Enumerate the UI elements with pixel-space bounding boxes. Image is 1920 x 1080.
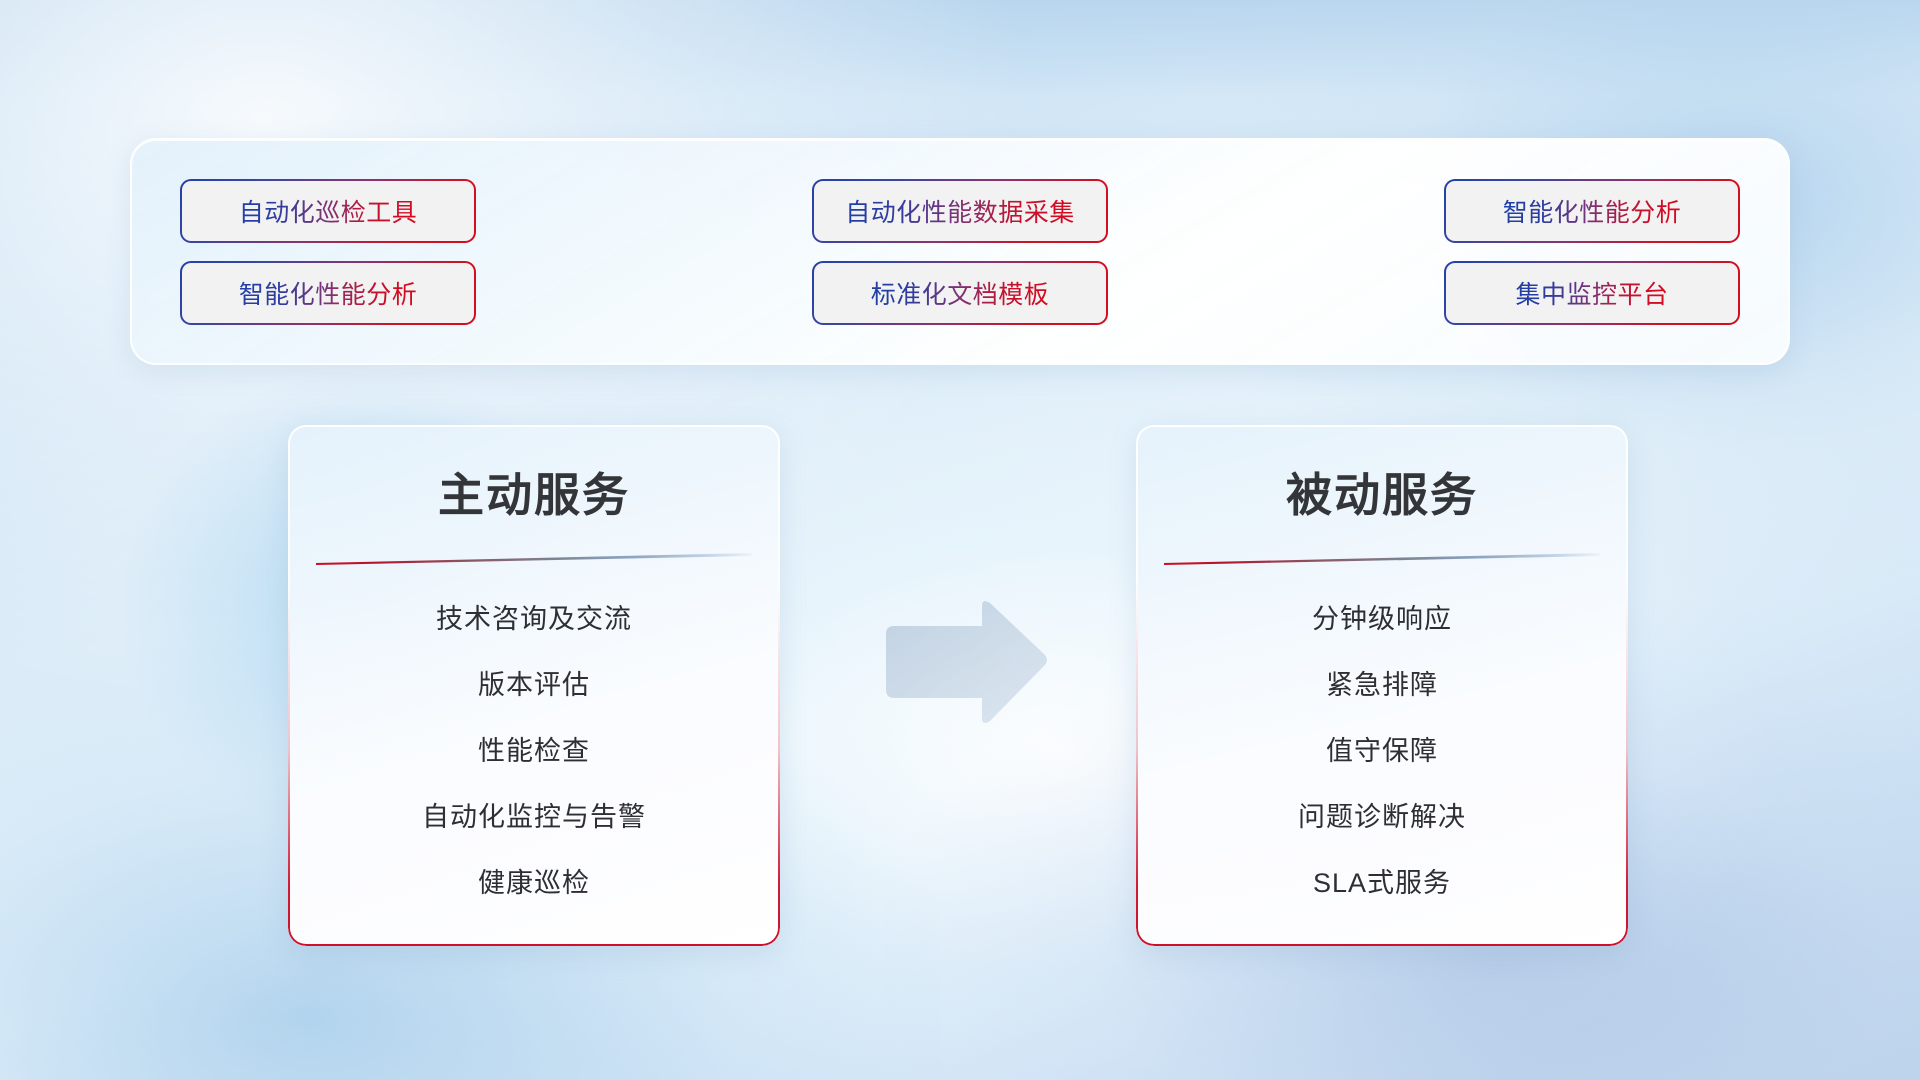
capability-pill-label: 智能化性能分析	[1503, 193, 1682, 229]
service-list-item: 自动化监控与告警	[422, 795, 646, 834]
service-list-item: 紧急排障	[1326, 663, 1438, 702]
capability-pill[interactable]: 标准化文档模板	[814, 263, 1106, 323]
title-divider	[316, 553, 752, 565]
service-list-item: 问题诊断解决	[1298, 795, 1466, 834]
capabilities-row-1: 自动化巡检工具 自动化性能数据采集 智能化性能分析	[182, 181, 1738, 241]
reactive-service-card: 被动服务 分钟级响应 紧急排障 值守保障 问题诊断解决 SLA式服务	[1136, 425, 1628, 946]
service-list-item: SLA式服务	[1313, 861, 1451, 900]
capability-pill[interactable]: 自动化巡检工具	[182, 181, 474, 241]
proactive-service-card: 主动服务 技术咨询及交流 版本评估 性能检查 自动化监控与告警 健康巡检	[288, 425, 780, 946]
service-list-item: 版本评估	[478, 663, 590, 702]
card-title: 主动服务	[288, 459, 780, 525]
service-list: 分钟级响应 紧急排障 值守保障 问题诊断解决 SLA式服务	[1136, 597, 1628, 900]
service-list: 技术咨询及交流 版本评估 性能检查 自动化监控与告警 健康巡检	[288, 597, 780, 900]
service-list-item: 健康巡检	[478, 861, 590, 900]
capability-pill-label: 自动化巡检工具	[239, 193, 418, 229]
capability-pill-label: 智能化性能分析	[239, 275, 418, 311]
capability-pill-label: 自动化性能数据采集	[845, 193, 1075, 229]
capability-pill[interactable]: 集中监控平台	[1446, 263, 1738, 323]
service-list-item: 技术咨询及交流	[436, 597, 632, 636]
card-title: 被动服务	[1136, 459, 1628, 525]
service-list-item: 性能检查	[478, 729, 590, 768]
capabilities-panel: 自动化巡检工具 自动化性能数据采集 智能化性能分析 智能化性能分析 标准化文档模…	[130, 138, 1790, 365]
capability-pill[interactable]: 自动化性能数据采集	[814, 181, 1106, 241]
title-divider	[1164, 553, 1600, 565]
service-list-item: 分钟级响应	[1312, 597, 1452, 636]
right-arrow-icon	[878, 598, 1050, 726]
capability-pill-label: 标准化文档模板	[871, 275, 1050, 311]
capabilities-row-2: 智能化性能分析 标准化文档模板 集中监控平台	[182, 263, 1738, 323]
capability-pill[interactable]: 智能化性能分析	[1446, 181, 1738, 241]
capability-pill[interactable]: 智能化性能分析	[182, 263, 474, 323]
capability-pill-label: 集中监控平台	[1515, 275, 1668, 311]
service-list-item: 值守保障	[1326, 729, 1438, 768]
